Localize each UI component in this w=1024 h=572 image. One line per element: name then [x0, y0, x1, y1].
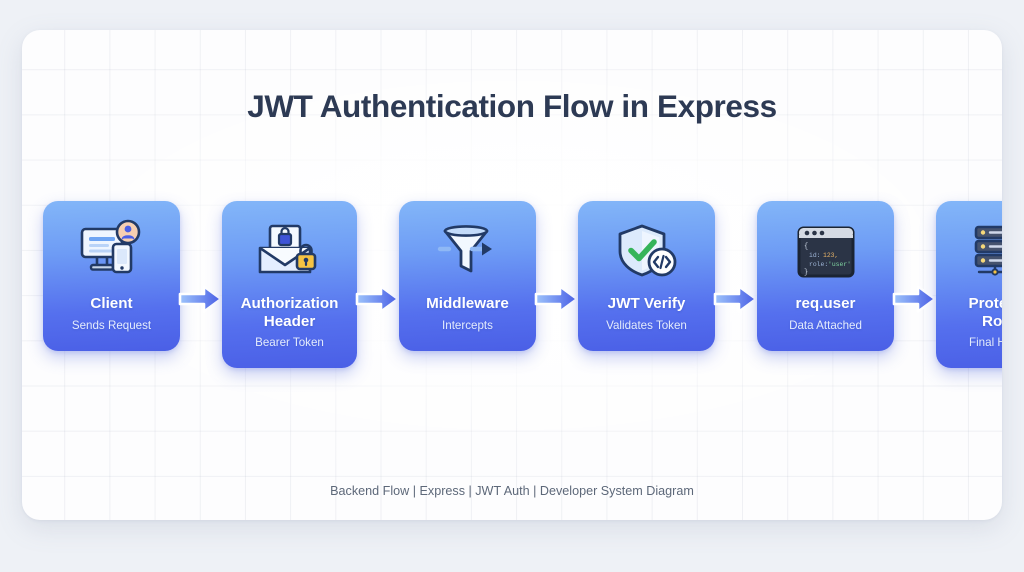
svg-text:123,: 123,: [823, 252, 838, 259]
step-title: Client: [90, 295, 132, 313]
footer-caption: Backend Flow | Express | JWT Auth | Deve…: [22, 484, 1002, 498]
step-title: Protected Route: [968, 295, 1002, 330]
step-subtitle: Validates Token: [606, 319, 687, 333]
diagram-canvas: JWT Authentication Flow in Express: [22, 30, 1002, 520]
flow-diagram: Client Sends Request: [43, 201, 981, 391]
step-subtitle: Data Attached: [789, 319, 862, 333]
step-subtitle: Intercepts: [442, 319, 493, 333]
flow-arrow-icon: [536, 284, 578, 314]
flow-step-req-user[interactable]: { id: 123, role: 'user' } req.user Data …: [757, 201, 894, 351]
shield-check-code-icon: [609, 221, 685, 283]
step-title: req.user: [796, 295, 856, 313]
flow-arrow-icon: [894, 284, 936, 314]
step-title: Authorization Header: [241, 295, 339, 330]
flow-step-jwt-verify[interactable]: JWT Verify Validates Token: [578, 201, 715, 351]
svg-text:}: }: [804, 269, 808, 277]
step-subtitle: Sends Request: [72, 319, 151, 333]
server-lock-check-icon: [966, 221, 1003, 283]
flow-arrow-icon: [357, 284, 399, 314]
desktop-mobile-user-icon: [74, 221, 150, 283]
svg-text:{: {: [804, 243, 808, 251]
flow-step-authorization-header[interactable]: Authorization Header Bearer Token: [222, 201, 357, 368]
svg-text:'user': 'user': [828, 261, 851, 268]
step-title: JWT Verify: [608, 295, 686, 313]
step-title: Middleware: [426, 295, 509, 313]
page-title: JWT Authentication Flow in Express: [22, 88, 1002, 125]
flow-step-client[interactable]: Client Sends Request: [43, 201, 180, 351]
step-subtitle: Bearer Token: [255, 336, 324, 350]
flow-step-middleware[interactable]: Middleware Intercepts: [399, 201, 536, 351]
svg-text:id:: id:: [809, 252, 821, 259]
flow-step-protected-route[interactable]: Protected Route Final Handler: [936, 201, 1002, 368]
funnel-arrow-icon: [430, 221, 506, 283]
svg-text:role:: role:: [809, 261, 828, 268]
envelope-lock-icon: [252, 221, 328, 283]
step-subtitle: Final Handler: [969, 336, 1002, 350]
flow-arrow-icon: [715, 284, 757, 314]
flow-arrow-icon: [180, 284, 222, 314]
code-window-icon: { id: 123, role: 'user' }: [788, 221, 864, 283]
